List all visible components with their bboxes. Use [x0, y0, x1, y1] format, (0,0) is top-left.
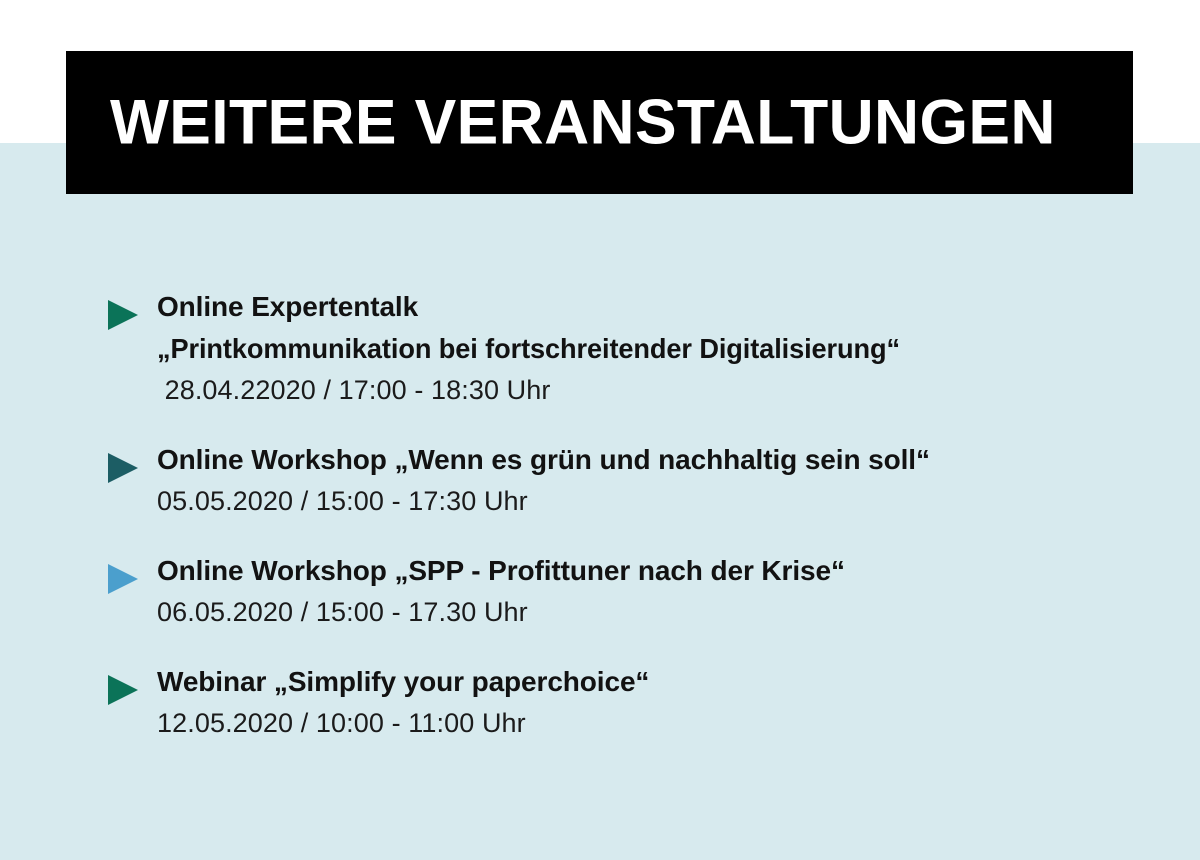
events-list: Online Expertentalk „Printkommunikation …	[0, 286, 1200, 743]
play-triangle-icon	[108, 675, 138, 705]
play-triangle-icon	[108, 300, 138, 330]
event-title-line: Webinar „Simplify your paperchoice“	[157, 661, 1200, 703]
event-item-3[interactable]: Online Workshop „SPP - Profittuner nach …	[0, 550, 1200, 632]
play-triangle-icon	[108, 564, 138, 594]
title-bar: WEITERE VERANSTALTUNGEN	[66, 51, 1133, 194]
event-item-1[interactable]: Online Expertentalk „Printkommunikation …	[0, 286, 1200, 410]
event-date: 05.05.2020 / 15:00 - 17:30 Uhr	[157, 481, 1200, 521]
event-date: 06.05.2020 / 15:00 - 17.30 Uhr	[157, 592, 1200, 632]
event-item-2[interactable]: Online Workshop „Wenn es grün und nachha…	[0, 439, 1200, 521]
event-title-line: Online Expertentalk	[157, 286, 1200, 328]
poster-canvas: WEITERE VERANSTALTUNGEN Online Expertent…	[0, 0, 1200, 860]
event-date: 12.05.2020 / 10:00 - 11:00 Uhr	[157, 703, 1200, 743]
play-triangle-icon	[108, 453, 138, 483]
event-date: 28.04.22020 / 17:00 - 18:30 Uhr	[157, 370, 1200, 410]
event-subtitle-line: „Printkommunikation bei fortschreitender…	[157, 328, 1169, 370]
event-title-line: Online Workshop „Wenn es grün und nachha…	[157, 439, 1200, 481]
event-item-4[interactable]: Webinar „Simplify your paperchoice“ 12.0…	[0, 661, 1200, 743]
page-title: WEITERE VERANSTALTUNGEN	[110, 91, 1056, 154]
event-title-line: Online Workshop „SPP - Profittuner nach …	[157, 550, 1200, 592]
